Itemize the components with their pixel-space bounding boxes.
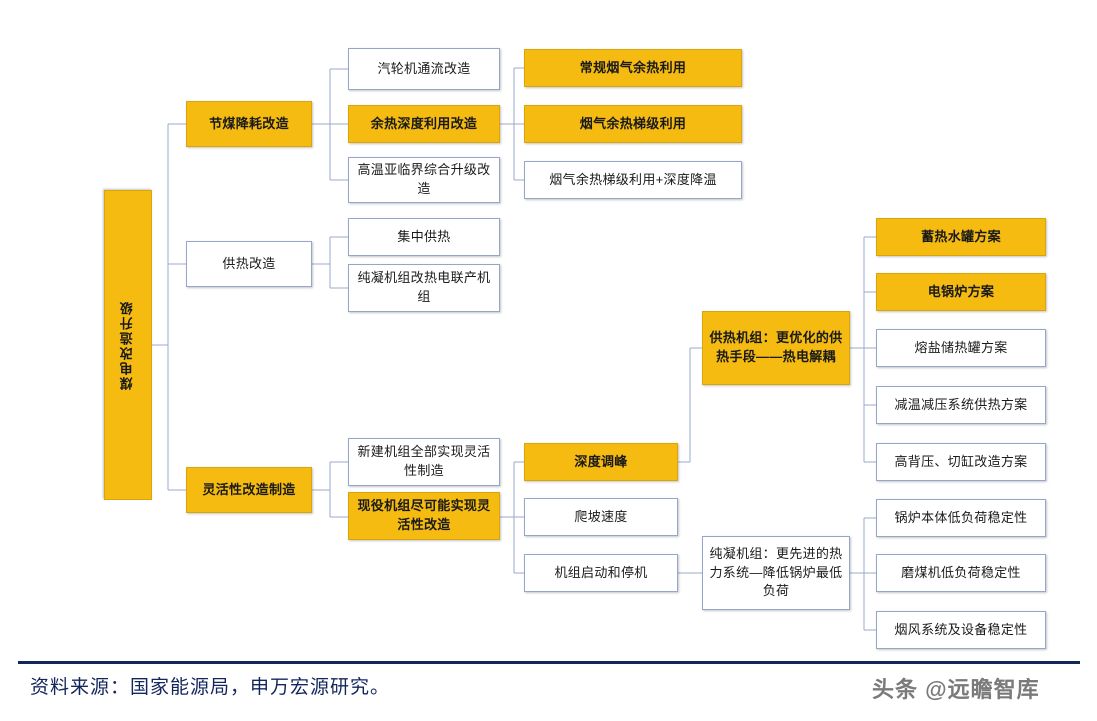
node-label: 供热改造	[222, 255, 275, 274]
diagram-canvas: 煤电改造升级 节煤降耗改造 供热改造 灵活性改造制造 汽轮机通流改造 余热深度利…	[0, 0, 1097, 721]
node-label: 磨煤机低负荷稳定性	[901, 564, 1021, 583]
node-high-temp-subcritical-upgrade[interactable]: 高温亚临界综合升级改造	[348, 157, 500, 203]
node-label: 深度调峰	[574, 453, 627, 472]
node-condensing-advanced-thermal-system[interactable]: 纯凝机组：更先进的热力系统—降低锅炉最低负荷	[702, 536, 850, 610]
node-turbine-flow-retrofit[interactable]: 汽轮机通流改造	[348, 48, 500, 90]
node-unit-start-and-stop[interactable]: 机组启动和停机	[524, 554, 678, 592]
node-conventional-flue-gas-waste-heat[interactable]: 常规烟气余热利用	[524, 49, 742, 87]
node-label: 现役机组尽可能实现灵活性改造	[353, 497, 495, 535]
node-label: 减温减压系统供热方案	[894, 396, 1027, 415]
node-label: 烟气余热梯级利用+深度降温	[549, 171, 717, 190]
node-cascade-plus-deep-cooling[interactable]: 烟气余热梯级利用+深度降温	[524, 161, 742, 199]
node-label: 常规烟气余热利用	[580, 59, 686, 78]
node-label: 锅炉本体低负荷稳定性	[894, 509, 1027, 528]
node-condensing-to-chp[interactable]: 纯凝机组改热电联产机组	[348, 264, 500, 312]
root-node-label: 煤电改造升级	[119, 300, 138, 390]
node-flexibility-retrofit[interactable]: 灵活性改造制造	[186, 467, 312, 513]
node-new-units-flexible-manufacturing[interactable]: 新建机组全部实现灵活性制造	[348, 438, 500, 486]
node-chp-heat-power-decoupling[interactable]: 供热机组：更优化的供热手段——热电解耦	[702, 311, 850, 385]
node-label: 余热深度利用改造	[371, 115, 477, 134]
node-label: 烟风系统及设备稳定性	[894, 621, 1027, 640]
node-label: 高背压、切缸改造方案	[894, 453, 1027, 472]
node-label: 汽轮机通流改造	[377, 60, 470, 79]
node-high-backpressure-cylinder-cut-scheme[interactable]: 高背压、切缸改造方案	[876, 443, 1046, 481]
node-label: 新建机组全部实现灵活性制造	[353, 443, 495, 481]
footer-divider	[18, 661, 1080, 664]
node-label: 纯凝机组改热电联产机组	[353, 269, 495, 307]
node-existing-units-flexible-retrofit[interactable]: 现役机组尽可能实现灵活性改造	[348, 492, 500, 540]
node-flue-gas-air-system-equipment-stability[interactable]: 烟风系统及设备稳定性	[876, 611, 1046, 649]
node-label: 蓄热水罐方案	[921, 228, 1001, 247]
node-label: 灵活性改造制造	[202, 481, 295, 500]
source-note: 资料来源：国家能源局，申万宏源研究。	[30, 672, 390, 699]
node-coal-mill-low-load-stability[interactable]: 磨煤机低负荷稳定性	[876, 554, 1046, 592]
node-waste-heat-deep-use[interactable]: 余热深度利用改造	[348, 105, 500, 143]
node-label: 机组启动和停机	[554, 564, 647, 583]
node-energy-saving-retrofit[interactable]: 节煤降耗改造	[186, 101, 312, 147]
node-label: 爬坡速度	[574, 508, 627, 527]
node-district-heating[interactable]: 集中供热	[348, 218, 500, 256]
node-label: 电锅炉方案	[928, 283, 995, 302]
node-label: 纯凝机组：更先进的热力系统—降低锅炉最低负荷	[707, 545, 845, 602]
node-cascade-flue-gas-waste-heat[interactable]: 烟气余热梯级利用	[524, 105, 742, 143]
node-label: 节煤降耗改造	[209, 115, 289, 134]
node-molten-salt-heat-storage-tank-scheme[interactable]: 熔盐储热罐方案	[876, 329, 1046, 367]
node-label: 烟气余热梯级利用	[580, 115, 686, 134]
root-node-coal-power-upgrade[interactable]: 煤电改造升级	[104, 190, 152, 500]
node-label: 高温亚临界综合升级改造	[353, 161, 495, 199]
node-ramp-rate[interactable]: 爬坡速度	[524, 498, 678, 536]
node-label: 供热机组：更优化的供热手段——热电解耦	[707, 329, 845, 367]
node-hot-water-storage-tank-scheme[interactable]: 蓄热水罐方案	[876, 218, 1046, 256]
node-deep-peak-shaving[interactable]: 深度调峰	[524, 443, 678, 481]
node-desuperheating-depressurizing-heating-scheme[interactable]: 减温减压系统供热方案	[876, 386, 1046, 424]
watermark-label: 头条 @远瞻智库	[872, 672, 1040, 704]
node-electric-boiler-scheme[interactable]: 电锅炉方案	[876, 273, 1046, 311]
node-label: 集中供热	[397, 228, 450, 247]
node-boiler-low-load-stability[interactable]: 锅炉本体低负荷稳定性	[876, 499, 1046, 537]
node-heating-retrofit[interactable]: 供热改造	[186, 241, 312, 287]
node-label: 熔盐储热罐方案	[914, 339, 1007, 358]
